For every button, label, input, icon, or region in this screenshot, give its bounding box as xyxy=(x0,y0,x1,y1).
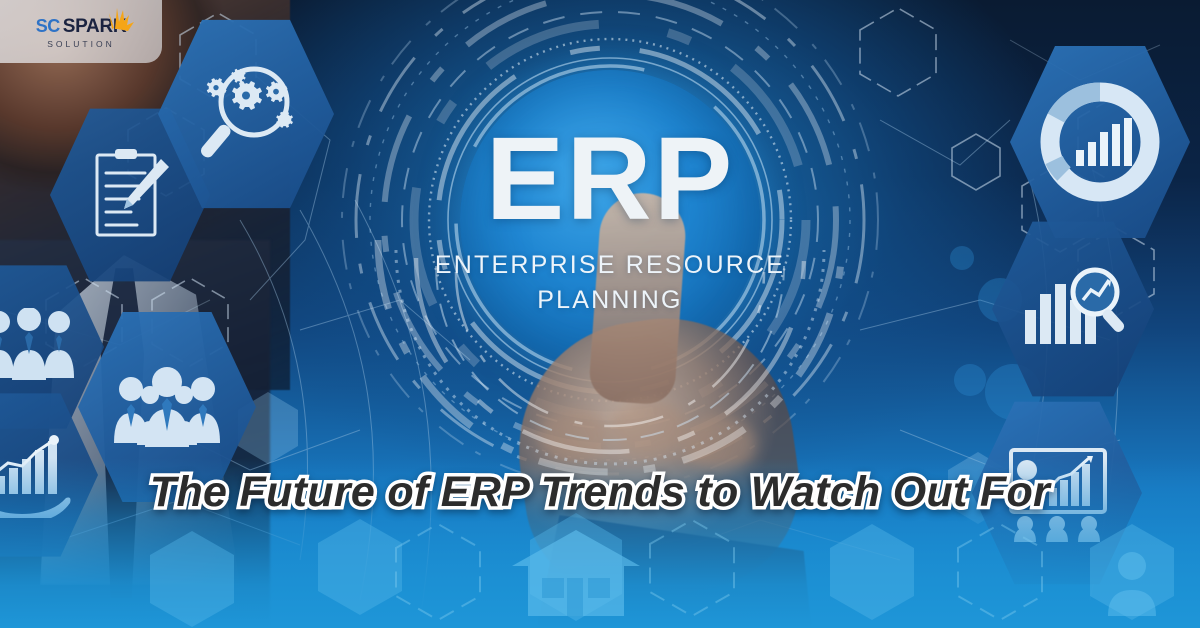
pencil-icon xyxy=(124,159,169,209)
people-team-icon xyxy=(107,363,227,451)
hud-rings-overlay xyxy=(330,0,890,500)
clipboard-pencil-icon xyxy=(87,147,173,243)
bottom-person-icon xyxy=(1108,552,1156,616)
logo-inner: SC SPARK SOLUTION xyxy=(36,14,127,49)
bar-chart-magnifier-icon xyxy=(1019,266,1127,352)
hex-tile-donut-chart xyxy=(1010,42,1190,242)
spark-burst-icon xyxy=(101,3,135,31)
logo-sc-text: SC xyxy=(36,16,60,37)
hex-tile-bar-magnifier xyxy=(992,218,1154,400)
donut-bar-chart-icon xyxy=(1040,82,1160,202)
brand-logo[interactable]: SC SPARK SOLUTION xyxy=(0,0,162,63)
headline: The Future of ERP Trends to Watch Out Fo… xyxy=(0,468,1200,517)
logo-tagline: SOLUTION xyxy=(36,39,127,49)
magnifier-gears-icon xyxy=(192,62,300,166)
team-group-icon xyxy=(0,308,77,386)
erp-banner: ERP ENTERPRISE RESOURCE PLANNING xyxy=(0,0,1200,628)
